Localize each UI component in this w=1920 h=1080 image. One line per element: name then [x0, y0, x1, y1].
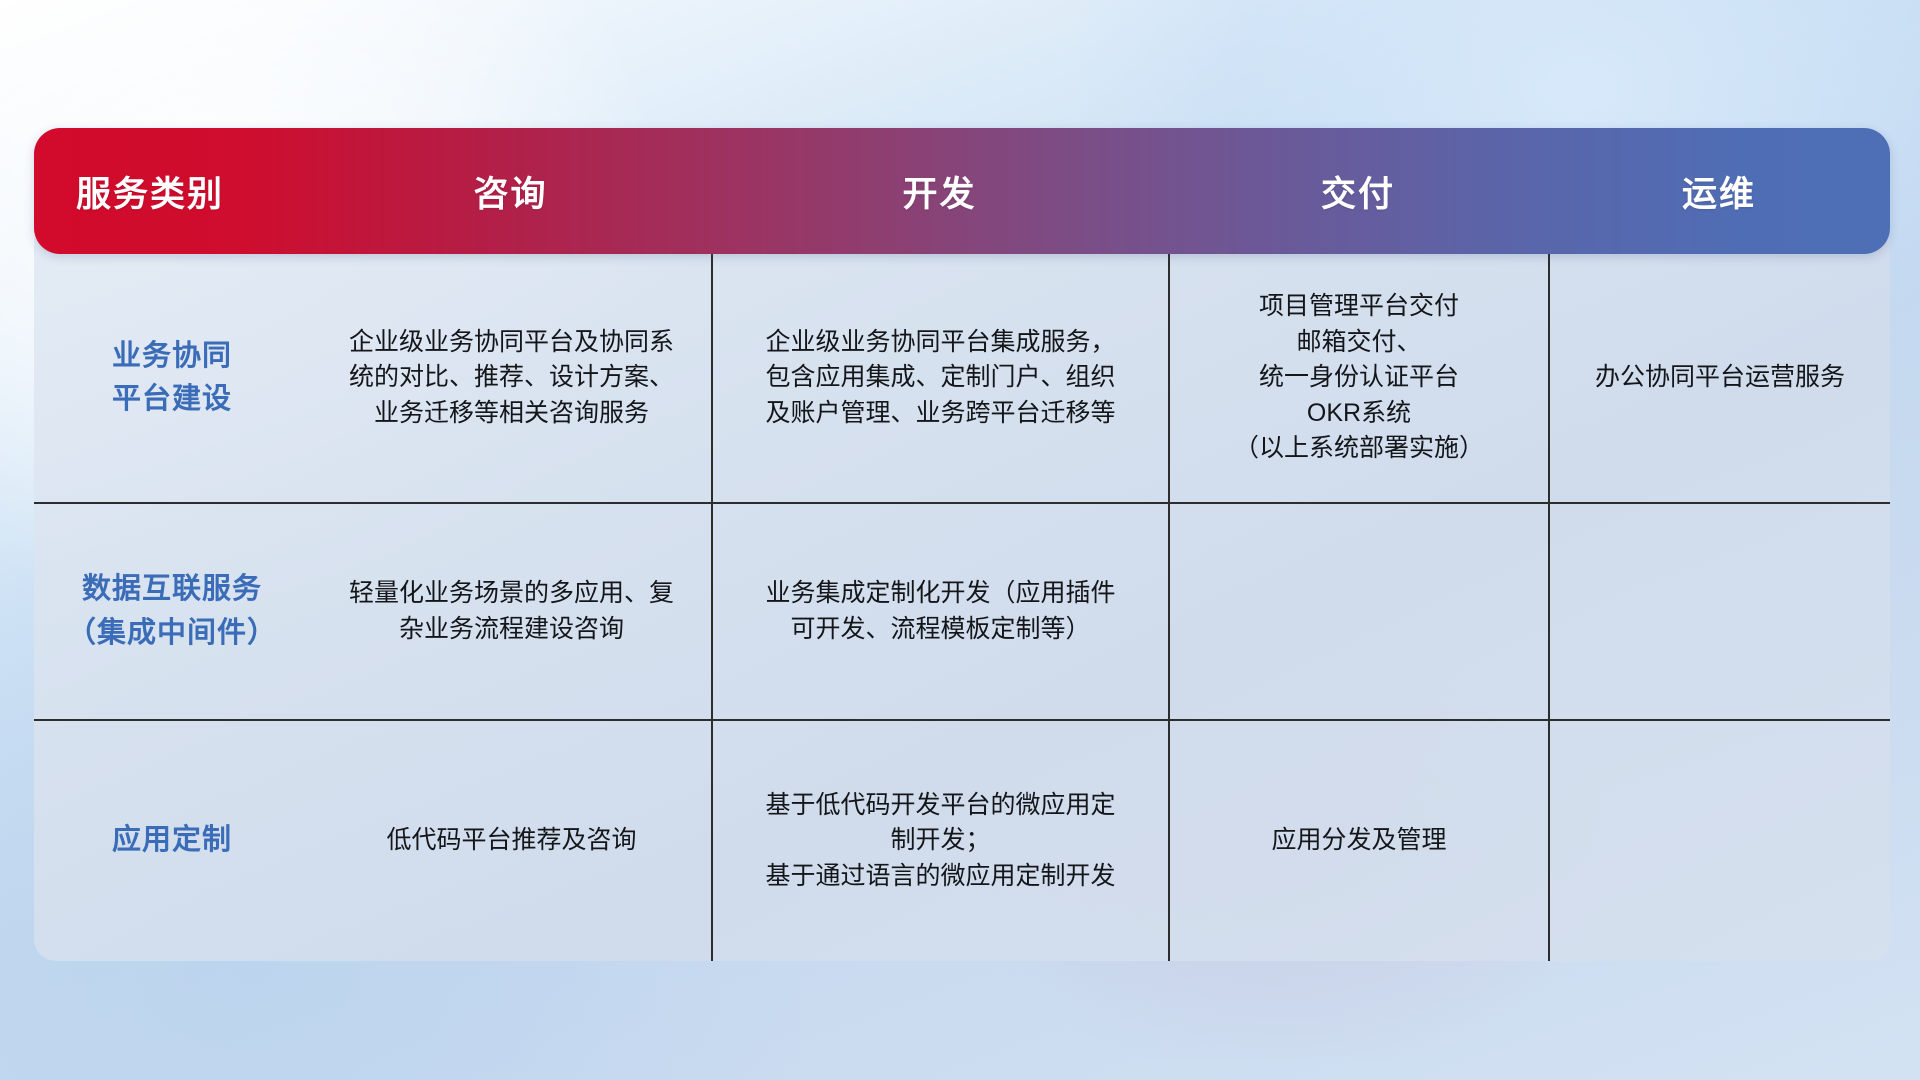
- table-row: 业务协同 平台建设 企业级业务协同平台及协同系 统的对比、推荐、设计方案、 业务…: [34, 254, 1890, 502]
- row-category-label: 数据互联服务 （集成中间件）: [34, 504, 310, 719]
- table-row: 应用定制 低代码平台推荐及咨询 基于低代码开发平台的微应用定 制开发； 基于通过…: [34, 719, 1890, 961]
- column-header-consulting: 咨询: [310, 128, 711, 254]
- cell-development: 企业级业务协同平台集成服务， 包含应用集成、定制门户、组织 及账户管理、业务跨平…: [711, 254, 1168, 502]
- cell-operations: [1548, 721, 1890, 961]
- table-row: 数据互联服务 （集成中间件） 轻量化业务场景的多应用、复 杂业务流程建设咨询 业…: [34, 502, 1890, 719]
- cell-consulting: 低代码平台推荐及咨询: [310, 721, 711, 961]
- cell-development: 业务集成定制化开发（应用插件 可开发、流程模板定制等）: [711, 504, 1168, 719]
- table-body: 业务协同 平台建设 企业级业务协同平台及协同系 统的对比、推荐、设计方案、 业务…: [34, 238, 1890, 961]
- cell-development: 基于低代码开发平台的微应用定 制开发； 基于通过语言的微应用定制开发: [711, 721, 1168, 961]
- cell-consulting: 企业级业务协同平台及协同系 统的对比、推荐、设计方案、 业务迁移等相关咨询服务: [310, 254, 711, 502]
- cell-operations: [1548, 504, 1890, 719]
- cell-delivery: [1168, 504, 1548, 719]
- column-header-operations: 运维: [1548, 128, 1890, 254]
- column-header-development: 开发: [711, 128, 1168, 254]
- column-header-category: 服务类别: [34, 128, 310, 254]
- service-matrix-table: 服务类别 咨询 开发 交付 运维 业务协同 平台建设 企业级业务协同平台及协同系…: [34, 128, 1890, 961]
- cell-consulting: 轻量化业务场景的多应用、复 杂业务流程建设咨询: [310, 504, 711, 719]
- cell-delivery: 项目管理平台交付 邮箱交付、 统一身份认证平台 OKR系统 （以上系统部署实施）: [1168, 254, 1548, 502]
- row-category-label: 应用定制: [34, 721, 310, 961]
- column-header-delivery: 交付: [1168, 128, 1548, 254]
- row-category-label: 业务协同 平台建设: [34, 254, 310, 502]
- cell-delivery: 应用分发及管理: [1168, 721, 1548, 961]
- cell-operations: 办公协同平台运营服务: [1548, 254, 1890, 502]
- table-header-row: 服务类别 咨询 开发 交付 运维: [34, 128, 1890, 254]
